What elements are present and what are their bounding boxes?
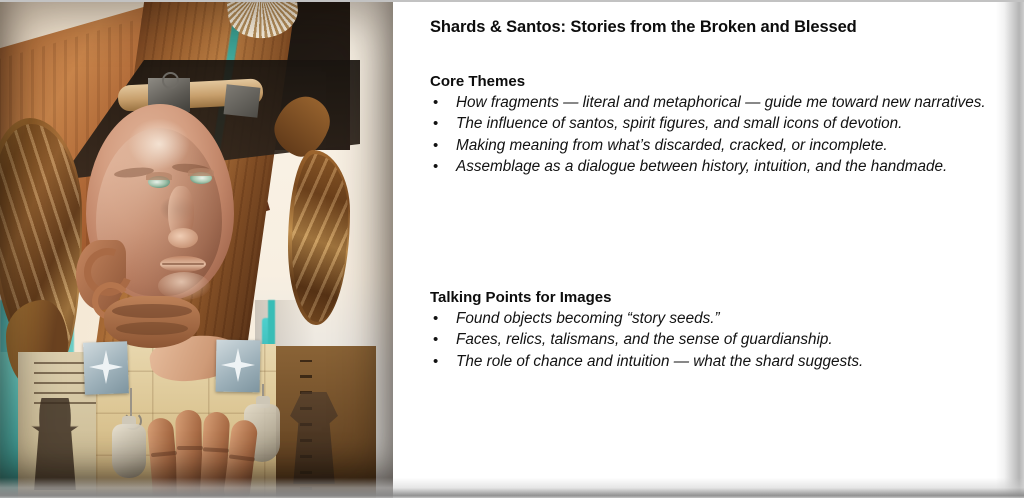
section-talking-points: Talking Points for Images • Found object… <box>430 289 1006 373</box>
eyelid-right <box>188 168 214 176</box>
list-item-text: Making meaning from what’s discarded, cr… <box>456 137 888 154</box>
forehead-highlight <box>128 118 190 170</box>
list-item: • Making meaning from what’s discarded, … <box>430 136 1006 156</box>
slide-shadow-bottom <box>0 464 1024 498</box>
list-item-text: Assemblage as a dialogue between history… <box>456 158 947 175</box>
bullet-glyph: • <box>433 136 438 156</box>
section-heading: Core Themes <box>430 73 1006 90</box>
list-item-text: Faces, relics, talismans, and the sense … <box>456 331 833 348</box>
bullet-glyph: • <box>433 330 438 350</box>
slide-title: Shards & Santos: Stories from the Broken… <box>430 18 990 37</box>
list-item-text: The role of chance and intuition — what … <box>456 353 863 370</box>
list-item: • How fragments — literal and metaphoric… <box>430 93 1006 113</box>
top-edge-rule <box>0 0 1024 2</box>
nose-tip <box>168 228 198 248</box>
slide-shadow-right <box>994 0 1024 498</box>
bullet-glyph: • <box>433 309 438 329</box>
knuckle-crease <box>177 446 203 450</box>
list-item: • The role of chance and intuition — wha… <box>430 352 1006 372</box>
list-item: • Faces, relics, talismans, and the sens… <box>430 330 1006 350</box>
list-item-text: Found objects becoming “story seeds.” <box>456 310 720 327</box>
neck-coil-upper <box>112 304 192 318</box>
bullet-glyph: • <box>433 157 438 177</box>
bullet-glyph: • <box>433 352 438 372</box>
lip-line <box>162 263 204 265</box>
neck-coil-lower <box>116 322 188 335</box>
bullet-glyph: • <box>433 114 438 134</box>
list-item-text: How fragments — literal and metaphorical… <box>456 94 986 111</box>
assemblage-shrine-photo <box>0 0 393 498</box>
list-item: • The influence of santos, spirit figure… <box>430 114 1006 134</box>
metal-bracket-secondary-icon <box>224 84 261 117</box>
slide-canvas: Shards & Santos: Stories from the Broken… <box>0 0 1024 498</box>
slide-text-content: Shards & Santos: Stories from the Broken… <box>430 0 1000 498</box>
bracket-loop-icon <box>162 72 179 89</box>
section-heading: Talking Points for Images <box>430 289 1006 306</box>
list-item: • Assemblage as a dialogue between histo… <box>430 157 1006 177</box>
section-core-themes: Core Themes • How fragments — literal an… <box>430 73 1006 178</box>
list-item: • Found objects becoming “story seeds.” <box>430 309 1006 329</box>
list-item-text: The influence of santos, spirit figures,… <box>456 115 902 132</box>
core-themes-bullet-list: • How fragments — literal and metaphoric… <box>430 93 1006 177</box>
bullet-glyph: • <box>433 93 438 113</box>
talking-points-bullet-list: • Found objects becoming “story seeds.” … <box>430 309 1006 372</box>
eyelid-left <box>146 172 172 180</box>
